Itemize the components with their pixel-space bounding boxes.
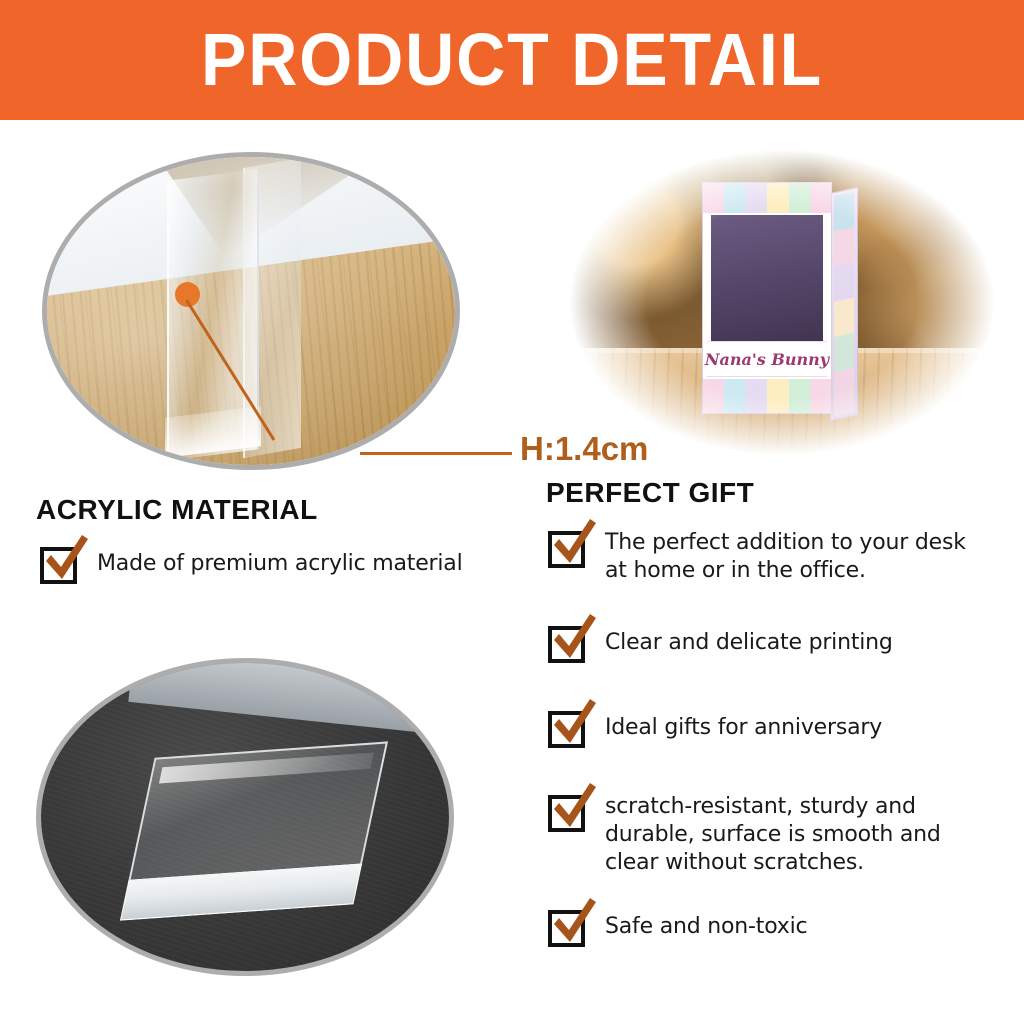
acrylic-block-highlight xyxy=(159,752,374,783)
product-detail-infographic: PRODUCT DETAIL H:1.4cm xyxy=(0,0,1024,1024)
check-icon xyxy=(546,697,602,753)
acrylic-block xyxy=(120,741,388,920)
feature-text: Safe and non-toxic xyxy=(605,913,807,941)
package-window xyxy=(711,215,823,343)
dimension-leader-line-horizontal xyxy=(360,452,512,455)
feature-item: The perfect addition to your desk at hom… xyxy=(548,529,994,585)
feature-item: Made of premium acrylic material xyxy=(40,545,520,584)
checkbox-checked[interactable] xyxy=(548,795,585,832)
feature-item: Safe and non-toxic xyxy=(548,908,994,947)
checkbox-checked[interactable] xyxy=(548,626,585,663)
product-package: Nana's Bunny xyxy=(702,182,832,414)
section-title-acrylic-material: ACRYLIC MATERIAL xyxy=(36,494,318,526)
checkbox-checked[interactable] xyxy=(548,711,585,748)
package-name-text: Nana's Bunny xyxy=(705,350,829,369)
feature-text: Clear and delicate printing xyxy=(605,629,893,657)
package-pattern-strip-bottom xyxy=(703,379,831,413)
check-icon xyxy=(546,781,602,837)
checkbox-checked[interactable] xyxy=(548,910,585,947)
check-icon xyxy=(546,896,602,952)
page-title: PRODUCT DETAIL xyxy=(201,23,823,97)
checkbox-checked[interactable] xyxy=(548,531,585,568)
check-icon xyxy=(546,612,602,668)
package-side-panel xyxy=(830,187,858,421)
header-banner: PRODUCT DETAIL xyxy=(0,0,1024,120)
check-icon xyxy=(546,517,602,573)
acrylic-block-top-face xyxy=(128,741,388,881)
feature-item: Clear and delicate printing xyxy=(548,624,994,663)
feature-text: Ideal gifts for anniversary xyxy=(605,714,882,742)
feature-text: Made of premium acrylic material xyxy=(97,550,463,578)
section-title-perfect-gift: PERFECT GIFT xyxy=(546,477,754,509)
photo-acrylic-block xyxy=(36,658,454,976)
checkbox-checked[interactable] xyxy=(40,547,77,584)
package-pattern-strip-top xyxy=(703,183,831,213)
feature-text: scratch-resistant, sturdy and durable, s… xyxy=(605,793,1000,877)
photo-boxed-doll: Nana's Bunny xyxy=(556,140,1008,465)
feature-item: scratch-resistant, sturdy and durable, s… xyxy=(548,793,1000,877)
photo-acrylic-edge xyxy=(42,152,460,470)
package-name-label: Nana's Bunny xyxy=(707,341,827,377)
feature-text: The perfect addition to your desk at hom… xyxy=(605,529,994,585)
package-front-panel: Nana's Bunny xyxy=(702,182,832,414)
check-icon xyxy=(38,533,94,589)
feature-item: Ideal gifts for anniversary xyxy=(548,709,994,748)
